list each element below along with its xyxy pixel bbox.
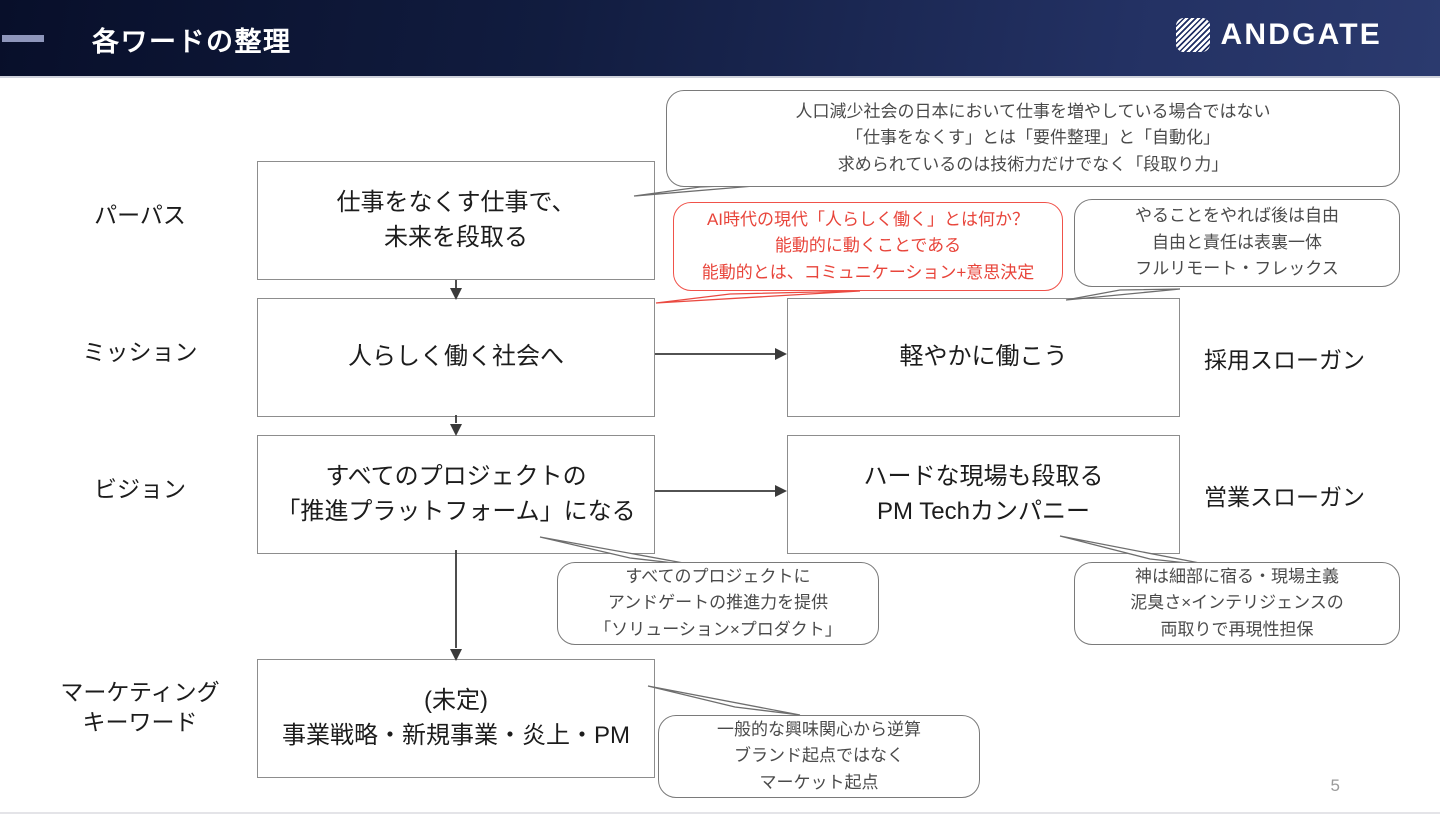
callout-sales-note[interactable]: 神は細部に宿る・現場主義 泥臭さ×インテリジェンスの 両取りで再現性担保: [1074, 562, 1400, 645]
callout-purpose-note[interactable]: 人口減少社会の日本において仕事を増やしている場合ではない 「仕事をなくす」とは「…: [666, 90, 1400, 187]
callout-vision-note[interactable]: すべてのプロジェクトに アンドゲートの推進力を提供 「ソリューション×プロダクト…: [557, 562, 879, 645]
callout-marketing-note[interactable]: 一般的な興味関心から逆算 ブランド起点ではなく マーケット起点: [658, 715, 980, 798]
callout-recruit-note[interactable]: やることをやれば後は自由 自由と責任は表裏一体 フルリモート・フレックス: [1074, 199, 1400, 287]
callout-mission-note-red[interactable]: AI時代の現代「人らしく働く」とは何か？ 能動的に動くことである 能動的とは、コ…: [673, 202, 1063, 291]
slide-canvas: 各ワードの整理 ANDGATE: [0, 0, 1440, 814]
